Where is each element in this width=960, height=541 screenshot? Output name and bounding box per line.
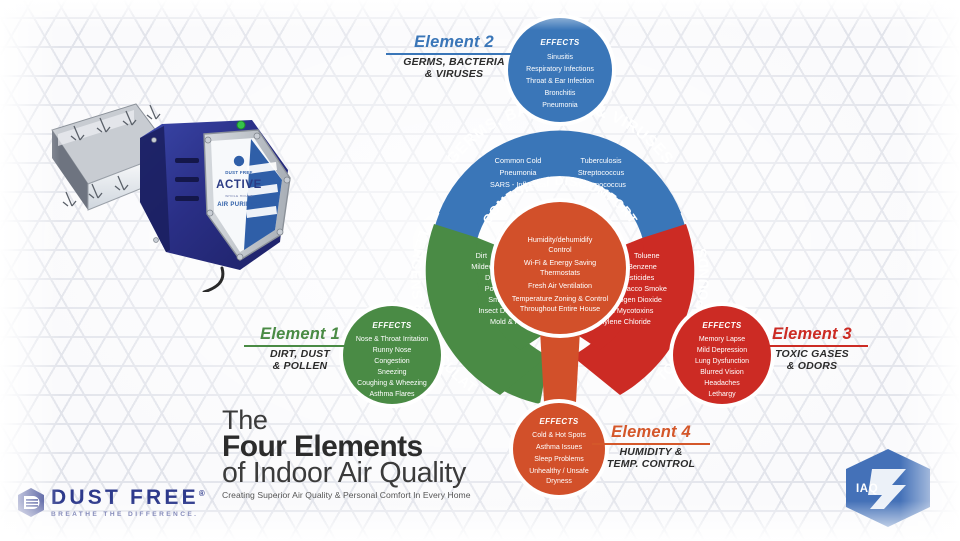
- svg-text:Streptococcus: Streptococcus: [578, 168, 625, 177]
- effects-heading-toxic: EFFECTS: [702, 321, 742, 330]
- iaq3-badge[interactable]: IAQ: [842, 447, 934, 529]
- svg-text:Benzene: Benzene: [628, 262, 657, 271]
- svg-text:Sleep Problems: Sleep Problems: [534, 456, 584, 463]
- dust-free-logo[interactable]: DUST FREE® BREATHE THE DIFFERENCE.: [18, 487, 208, 518]
- svg-text:Asthma Flares: Asthma Flares: [369, 391, 415, 398]
- svg-text:Thermostats: Thermostats: [540, 268, 580, 277]
- svg-text:Sneezing: Sneezing: [377, 369, 406, 376]
- svg-text:Fresh Air Ventilation: Fresh Air Ventilation: [528, 281, 592, 290]
- element-4-callout[interactable]: Element 4 HUMIDITY & TEMP. CONTROL: [592, 424, 710, 470]
- element-1-subtitle-line2: & POLLEN: [244, 361, 356, 373]
- svg-text:Lethargy: Lethargy: [708, 391, 736, 398]
- iaq3-label: IAQ: [856, 483, 878, 495]
- element-2-title: Element 2: [386, 34, 522, 52]
- svg-text:Cold & Hot Spots: Cold & Hot Spots: [532, 432, 586, 439]
- svg-text:Headaches: Headaches: [704, 380, 740, 387]
- title-line-3: of Indoor Air Quality: [222, 459, 471, 488]
- infographic-canvas: DUST FREE ACTIVE WHOLE HOUSE AIR PURIFIE…: [0, 0, 960, 541]
- element-4-title: Element 4: [592, 424, 710, 442]
- brand-tagline: BREATHE THE DIFFERENCE.: [51, 511, 208, 518]
- svg-text:Asthma Issues: Asthma Issues: [536, 444, 582, 451]
- svg-text:Bronchitis: Bronchitis: [545, 90, 576, 97]
- main-title-block: The Four Elements of Indoor Air Quality …: [222, 408, 471, 500]
- svg-text:Mild Depression: Mild Depression: [697, 347, 747, 354]
- svg-text:Pneumonia: Pneumonia: [542, 102, 578, 109]
- title-tagline: Creating Superior Air Quality & Personal…: [222, 490, 471, 500]
- svg-text:Pneumonia: Pneumonia: [500, 168, 538, 177]
- brand-registered-mark: ®: [199, 489, 208, 498]
- svg-text:Humidity/dehumidify: Humidity/dehumidify: [528, 235, 593, 244]
- element-3-subtitle-line1: TOXIC GASES: [756, 349, 868, 361]
- element-1-callout[interactable]: Element 1 DIRT, DUST & POLLEN: [244, 326, 356, 372]
- four-elements-wheel: GERMS, BACTERIA & VIRUSES Common Cold Pn…: [0, 0, 960, 541]
- effects-heading-germs: EFFECTS: [540, 38, 580, 47]
- effects-heading-allergens: EFFECTS: [372, 321, 412, 330]
- element-2-subtitle-line1: GERMS, BACTERIA: [386, 57, 522, 69]
- svg-text:Toluene: Toluene: [634, 251, 660, 260]
- effects-heading-comfort: EFFECTS: [539, 417, 579, 426]
- svg-text:Memory Lapse: Memory Lapse: [699, 336, 745, 343]
- element-4-subtitle-line2: TEMP. CONTROL: [592, 459, 710, 471]
- svg-text:Lung Dysfunction: Lung Dysfunction: [695, 358, 749, 365]
- svg-text:Respiratory Infections: Respiratory Infections: [526, 66, 594, 73]
- element-1-subtitle-line1: DIRT, DUST: [244, 349, 356, 361]
- svg-text:Throughout Entire House: Throughout Entire House: [520, 304, 600, 313]
- element-2-callout[interactable]: Element 2 GERMS, BACTERIA & VIRUSES: [386, 34, 522, 80]
- svg-text:Temperature Zoning & Control: Temperature Zoning & Control: [512, 294, 609, 303]
- svg-text:Wi-Fi & Energy Saving: Wi-Fi & Energy Saving: [524, 258, 596, 267]
- svg-text:Common Cold: Common Cold: [495, 156, 542, 165]
- element-2-subtitle-line2: & VIRUSES: [386, 69, 522, 81]
- svg-text:Dirt: Dirt: [476, 251, 487, 260]
- svg-text:Control: Control: [548, 245, 572, 254]
- element-3-subtitle-line2: & ODORS: [756, 361, 868, 373]
- element-4-subtitle-line1: HUMIDITY &: [592, 447, 710, 459]
- svg-text:Tuberculosis: Tuberculosis: [580, 156, 621, 165]
- svg-text:Congestion: Congestion: [374, 358, 410, 365]
- svg-text:Throat & Ear Infection: Throat & Ear Infection: [526, 78, 594, 85]
- svg-text:Nose & Throat Irritation: Nose & Throat Irritation: [356, 336, 428, 343]
- element-1-title: Element 1: [244, 326, 356, 344]
- svg-text:Runny Nose: Runny Nose: [373, 347, 412, 354]
- element-3-title: Element 3: [756, 326, 868, 344]
- svg-text:Blurred Vision: Blurred Vision: [700, 369, 744, 376]
- dust-free-mark-icon: [18, 488, 44, 517]
- svg-text:Dryness: Dryness: [546, 478, 572, 485]
- svg-text:Unhealthy / Unsafe: Unhealthy / Unsafe: [529, 468, 589, 475]
- element-3-callout[interactable]: Element 3 TOXIC GASES & ODORS: [756, 326, 868, 372]
- svg-text:Coughing & Wheezing: Coughing & Wheezing: [357, 380, 427, 387]
- svg-text:Sinusitis: Sinusitis: [547, 54, 574, 61]
- brand-name: DUST FREE: [51, 486, 199, 509]
